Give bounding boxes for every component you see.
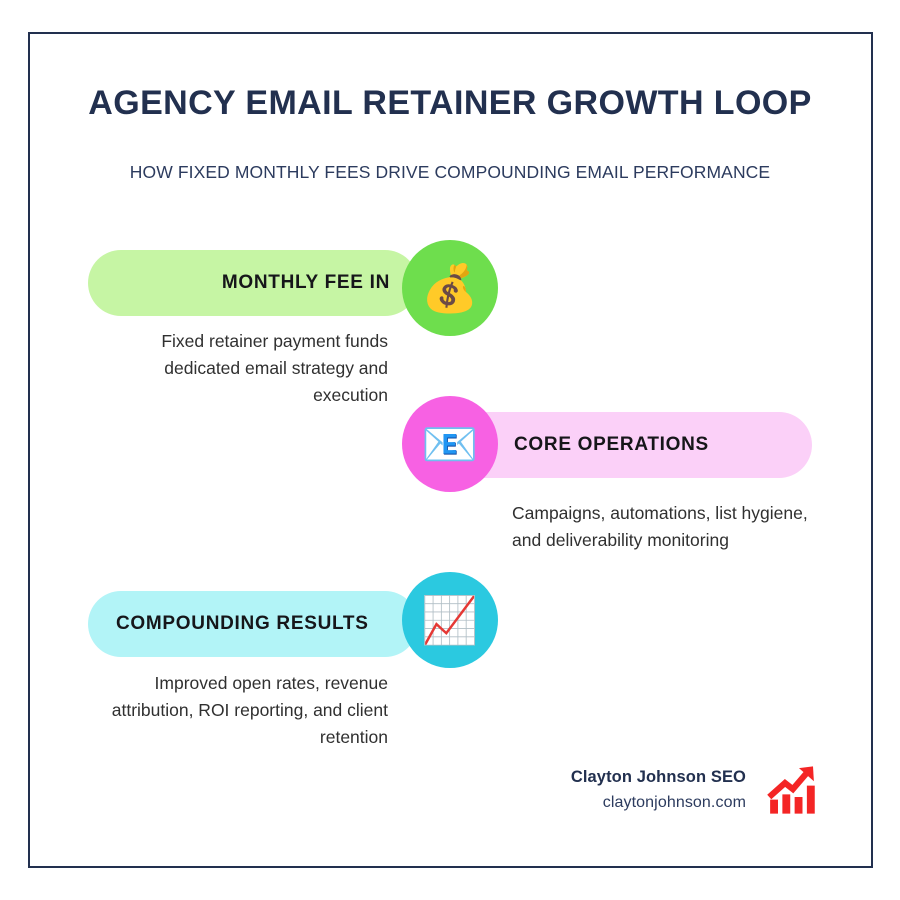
email-icon: 📧 [402, 396, 498, 492]
step-description: Campaigns, automations, list hygiene, an… [512, 500, 812, 554]
infographic-poster: AGENCY EMAIL RETAINER GROWTH LOOP HOW FI… [0, 0, 900, 900]
step-description: Improved open rates, revenue attribution… [88, 670, 388, 751]
step-label: MONTHLY FEE IN [222, 272, 390, 294]
step-pill-compounding-results: COMPOUNDING RESULTS [88, 591, 418, 657]
brand-url: claytonjohnson.com [571, 792, 746, 814]
money-bag-icon: 💰 [402, 240, 498, 336]
money-bag-glyph: 💰 [421, 265, 478, 311]
chart-increasing-glyph: 📈 [421, 597, 478, 643]
step-label: CORE OPERATIONS [514, 434, 709, 456]
page-title: AGENCY EMAIL RETAINER GROWTH LOOP [0, 84, 900, 123]
step-pill-monthly-fee-in: MONTHLY FEE IN [88, 250, 418, 316]
step-label: COMPOUNDING RESULTS [116, 613, 369, 635]
step-description: Fixed retainer payment funds dedicated e… [88, 328, 388, 409]
email-glyph: 📧 [421, 421, 478, 467]
chart-increasing-icon: 📈 [402, 572, 498, 668]
page-subtitle: HOW FIXED MONTHLY FEES DRIVE COMPOUNDING… [0, 162, 900, 183]
brand-name: Clayton Johnson SEO [571, 766, 746, 788]
growth-bar-chart-arrow-icon [764, 762, 820, 818]
brand-text-block: Clayton Johnson SEO claytonjohnson.com [571, 766, 746, 815]
footer-branding: Clayton Johnson SEO claytonjohnson.com [500, 762, 820, 818]
